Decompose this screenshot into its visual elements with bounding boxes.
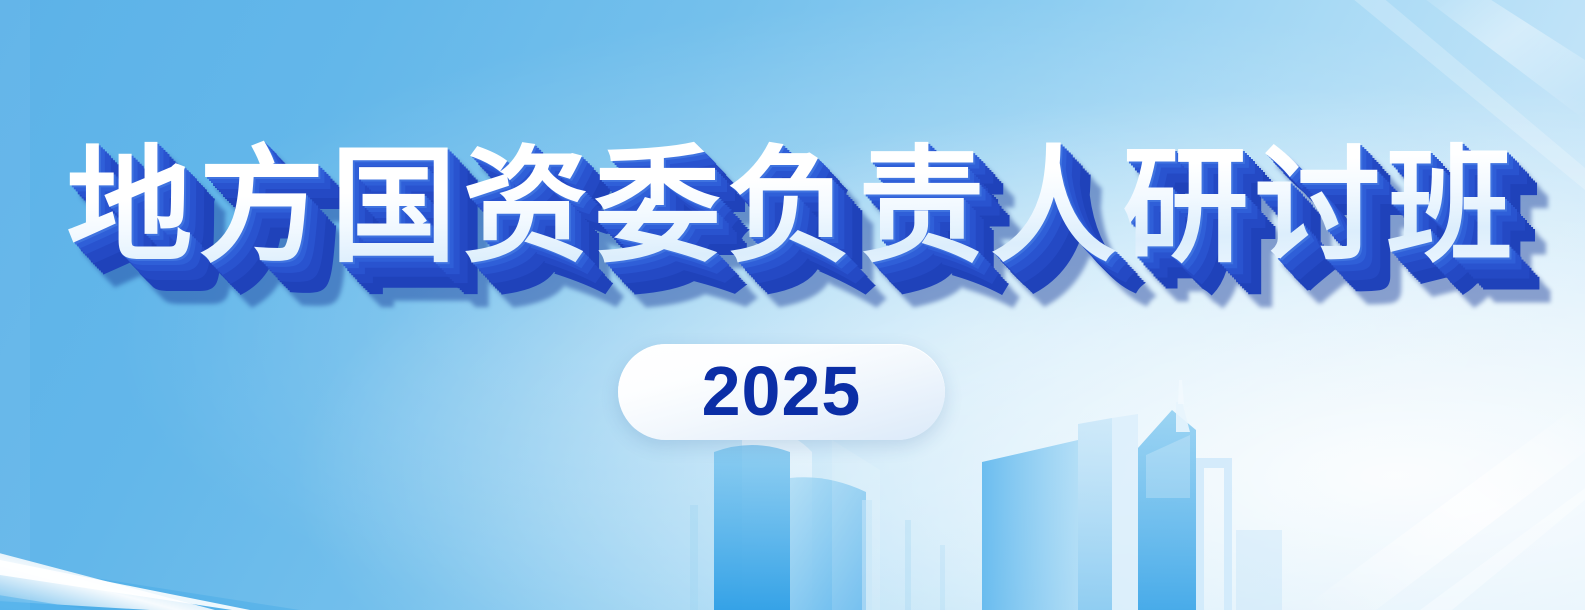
skyline-background-hints [690, 505, 945, 610]
year-badge: 2025 [618, 344, 945, 440]
bottom-right-streak [1300, 400, 1585, 610]
title-container: 地方国资委负责人研讨班 [0, 140, 1585, 274]
seminar-banner: 地方国资委负责人研讨班 2025 [0, 0, 1585, 610]
top-right-streak [1330, 0, 1585, 190]
bottom-left-swoosh [0, 548, 300, 610]
skyline-right-group [982, 380, 1282, 610]
skyline-center-group [714, 430, 880, 610]
banner-title: 地方国资委负责人研讨班 [67, 140, 1519, 274]
background-decoration-layer [0, 0, 1585, 610]
year-badge-label: 2025 [702, 356, 862, 426]
